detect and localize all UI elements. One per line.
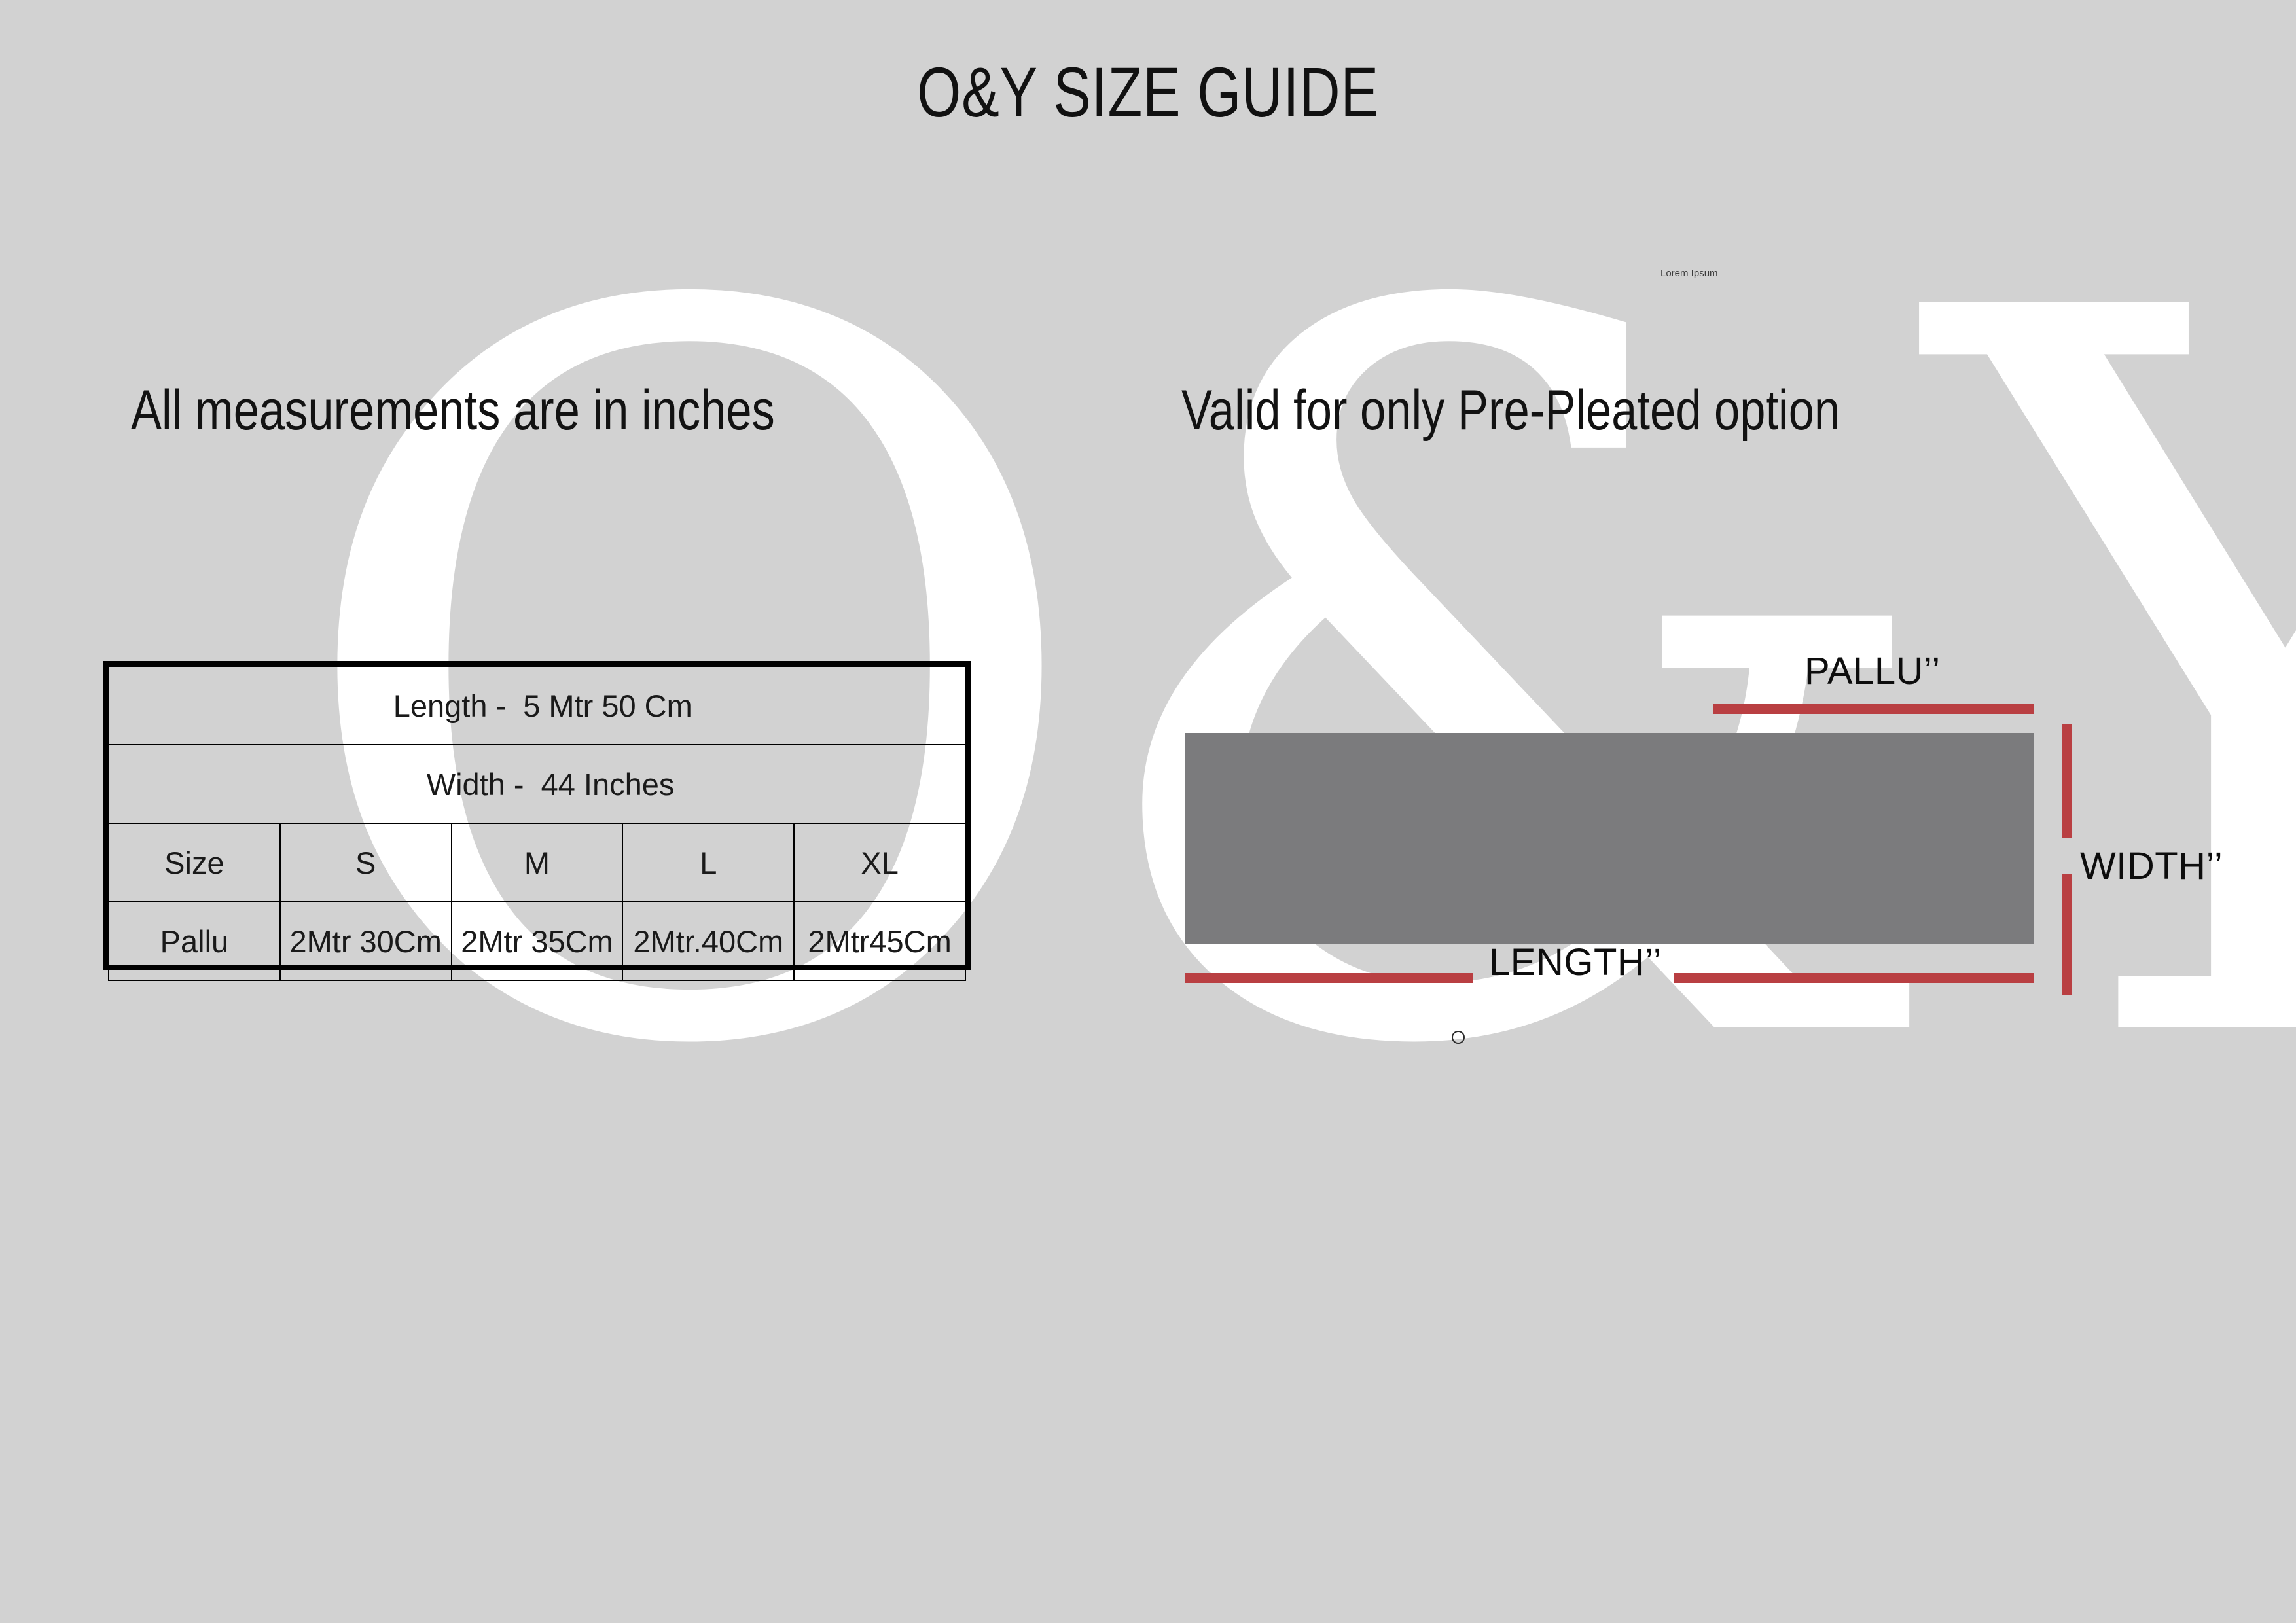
size-table-grid: Length -5 Mtr 50 Cm Width -44 Inches Siz… [108,666,966,981]
table-header-l: L [622,823,794,902]
length-measure-line-right [1674,973,2034,983]
spec-label-length: Length - [382,688,516,724]
width-measure-line-top [2062,724,2072,838]
spec-label-width: Width - [400,766,535,802]
table-row-length: Length -5 Mtr 50 Cm [109,666,965,745]
heading-pre-pleated-validity: Valid for only Pre-Pleated option [1181,378,1840,443]
table-header-size: Size [109,823,280,902]
spec-value-width: 44 Inches [535,766,675,802]
fabric-swatch-rectangle [1185,733,2034,944]
pallu-measure-line [1713,704,2034,714]
width-measure-line-bottom [2062,874,2072,995]
table-row-width: Width -44 Inches [109,745,965,823]
table-cell-pallu-label: Pallu [109,902,280,980]
saree-measurement-diagram: PALLU’’ WIDTH’’ LENGTH’’ [1145,622,2166,1067]
lorem-ipsum-note: Lorem Ipsum [1660,268,1718,279]
table-header-xl: XL [794,823,965,902]
size-table: Length -5 Mtr 50 Cm Width -44 Inches Siz… [103,661,971,970]
length-label: LENGTH’’ [1489,940,1662,984]
table-header-s: S [280,823,452,902]
table-cell-pallu-m: 2Mtr 35Cm [452,902,623,980]
size-guide-canvas: O&Y O&Y SIZE GUIDE Lorem Ipsum All measu… [0,0,2296,1623]
table-header-m: M [452,823,623,902]
heading-measurements-units: All measurements are in inches [131,378,775,443]
small-circle-artifact [1452,1031,1465,1044]
table-cell-pallu-l: 2Mtr.40Cm [622,902,794,980]
length-measure-line-left [1185,973,1473,983]
table-row-size-header: Size S M L XL [109,823,965,902]
table-cell-pallu-xl: 2Mtr45Cm [794,902,965,980]
spec-cell-length: Length -5 Mtr 50 Cm [109,666,965,745]
spec-cell-width: Width -44 Inches [109,745,965,823]
spec-value-length: 5 Mtr 50 Cm [516,688,692,724]
table-cell-pallu-s: 2Mtr 30Cm [280,902,452,980]
width-label: WIDTH’’ [2080,844,2223,888]
pallu-label: PALLU’’ [1804,649,1941,693]
page-title: O&Y SIZE GUIDE [230,51,2066,133]
table-row-pallu: Pallu 2Mtr 30Cm 2Mtr 35Cm 2Mtr.40Cm 2Mtr… [109,902,965,980]
